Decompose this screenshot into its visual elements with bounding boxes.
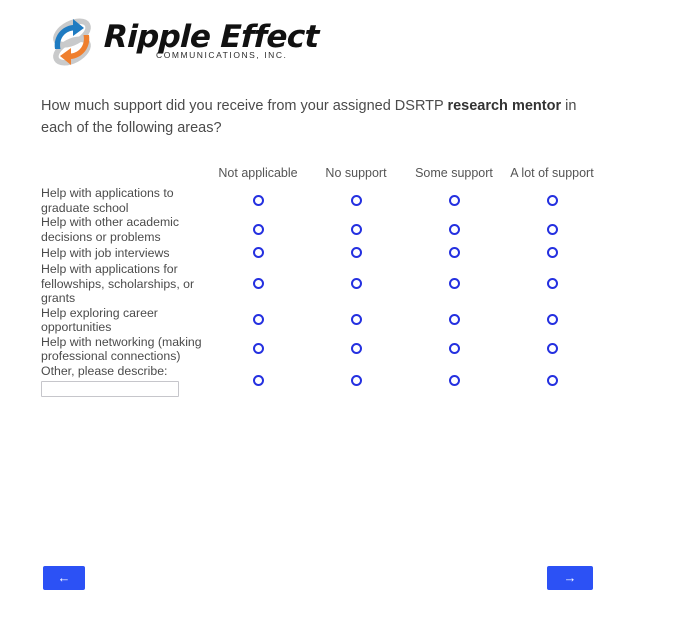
brand-logo: Ripple Effect COMMUNICATIONS, INC. — [46, 16, 319, 68]
table-row: Help exploring career opportunities — [41, 306, 601, 335]
row-label: Help with other academic decisions or pr… — [41, 215, 209, 244]
radio-row6-col3[interactable] — [547, 375, 558, 386]
row-label: Help with job interviews — [41, 244, 209, 262]
column-header-a-lot-of-support: A lot of support — [503, 152, 601, 186]
brand-name: Ripple Effect — [103, 22, 319, 53]
radio-row0-col1[interactable] — [351, 195, 362, 206]
radio-row2-col3[interactable] — [547, 247, 558, 258]
question-emphasis: research mentor — [447, 98, 561, 114]
radio-row0-col3[interactable] — [547, 195, 558, 206]
radio-row6-col2[interactable] — [449, 375, 460, 386]
column-header-some-support: Some support — [405, 152, 503, 186]
next-page-button[interactable]: → — [547, 566, 593, 590]
radio-row1-col0[interactable] — [253, 224, 264, 235]
radio-row5-col0[interactable] — [253, 343, 264, 354]
radio-row1-col3[interactable] — [547, 224, 558, 235]
table-row-other: Other, please describe: — [41, 364, 601, 398]
radio-row4-col3[interactable] — [547, 314, 558, 325]
matrix-corner-cell — [41, 152, 209, 186]
radio-row4-col2[interactable] — [449, 314, 460, 325]
radio-row5-col2[interactable] — [449, 343, 460, 354]
radio-row1-col1[interactable] — [351, 224, 362, 235]
column-header-not-applicable: Not applicable — [209, 152, 307, 186]
other-describe-input[interactable] — [41, 381, 179, 397]
radio-row4-col0[interactable] — [253, 314, 264, 325]
ripple-swirl-logo-icon — [46, 16, 98, 68]
radio-row0-col2[interactable] — [449, 195, 460, 206]
radio-row6-col0[interactable] — [253, 375, 264, 386]
radio-row4-col1[interactable] — [351, 314, 362, 325]
radio-row1-col2[interactable] — [449, 224, 460, 235]
row-label-other: Other, please describe: — [41, 364, 209, 398]
other-label: Other, please describe: — [41, 364, 167, 378]
previous-page-button[interactable]: ← — [43, 566, 85, 590]
radio-row3-col3[interactable] — [547, 278, 558, 289]
question-part-1: How much support did you receive from yo… — [41, 98, 447, 114]
table-row: Help with applications to graduate schoo… — [41, 186, 601, 215]
radio-row5-col3[interactable] — [547, 343, 558, 354]
table-row: Help with other academic decisions or pr… — [41, 215, 601, 244]
row-label: Help exploring career opportunities — [41, 306, 209, 335]
radio-row2-col2[interactable] — [449, 247, 460, 258]
radio-row5-col1[interactable] — [351, 343, 362, 354]
matrix-header-row: Not applicable No support Some support A… — [41, 152, 601, 186]
row-label: Help with applications for fellowships, … — [41, 262, 209, 306]
radio-row3-col2[interactable] — [449, 278, 460, 289]
row-label: Help with networking (making professiona… — [41, 335, 209, 364]
column-header-no-support: No support — [307, 152, 405, 186]
radio-row0-col0[interactable] — [253, 195, 264, 206]
radio-row6-col1[interactable] — [351, 375, 362, 386]
radio-row3-col1[interactable] — [351, 278, 362, 289]
radio-row2-col1[interactable] — [351, 247, 362, 258]
support-matrix: Not applicable No support Some support A… — [41, 152, 601, 397]
question-text: How much support did you receive from yo… — [41, 95, 595, 139]
radio-row3-col0[interactable] — [253, 278, 264, 289]
table-row: Help with applications for fellowships, … — [41, 262, 601, 306]
table-row: Help with job interviews — [41, 244, 601, 262]
row-label: Help with applications to graduate schoo… — [41, 186, 209, 215]
table-row: Help with networking (making professiona… — [41, 335, 601, 364]
radio-row2-col0[interactable] — [253, 247, 264, 258]
